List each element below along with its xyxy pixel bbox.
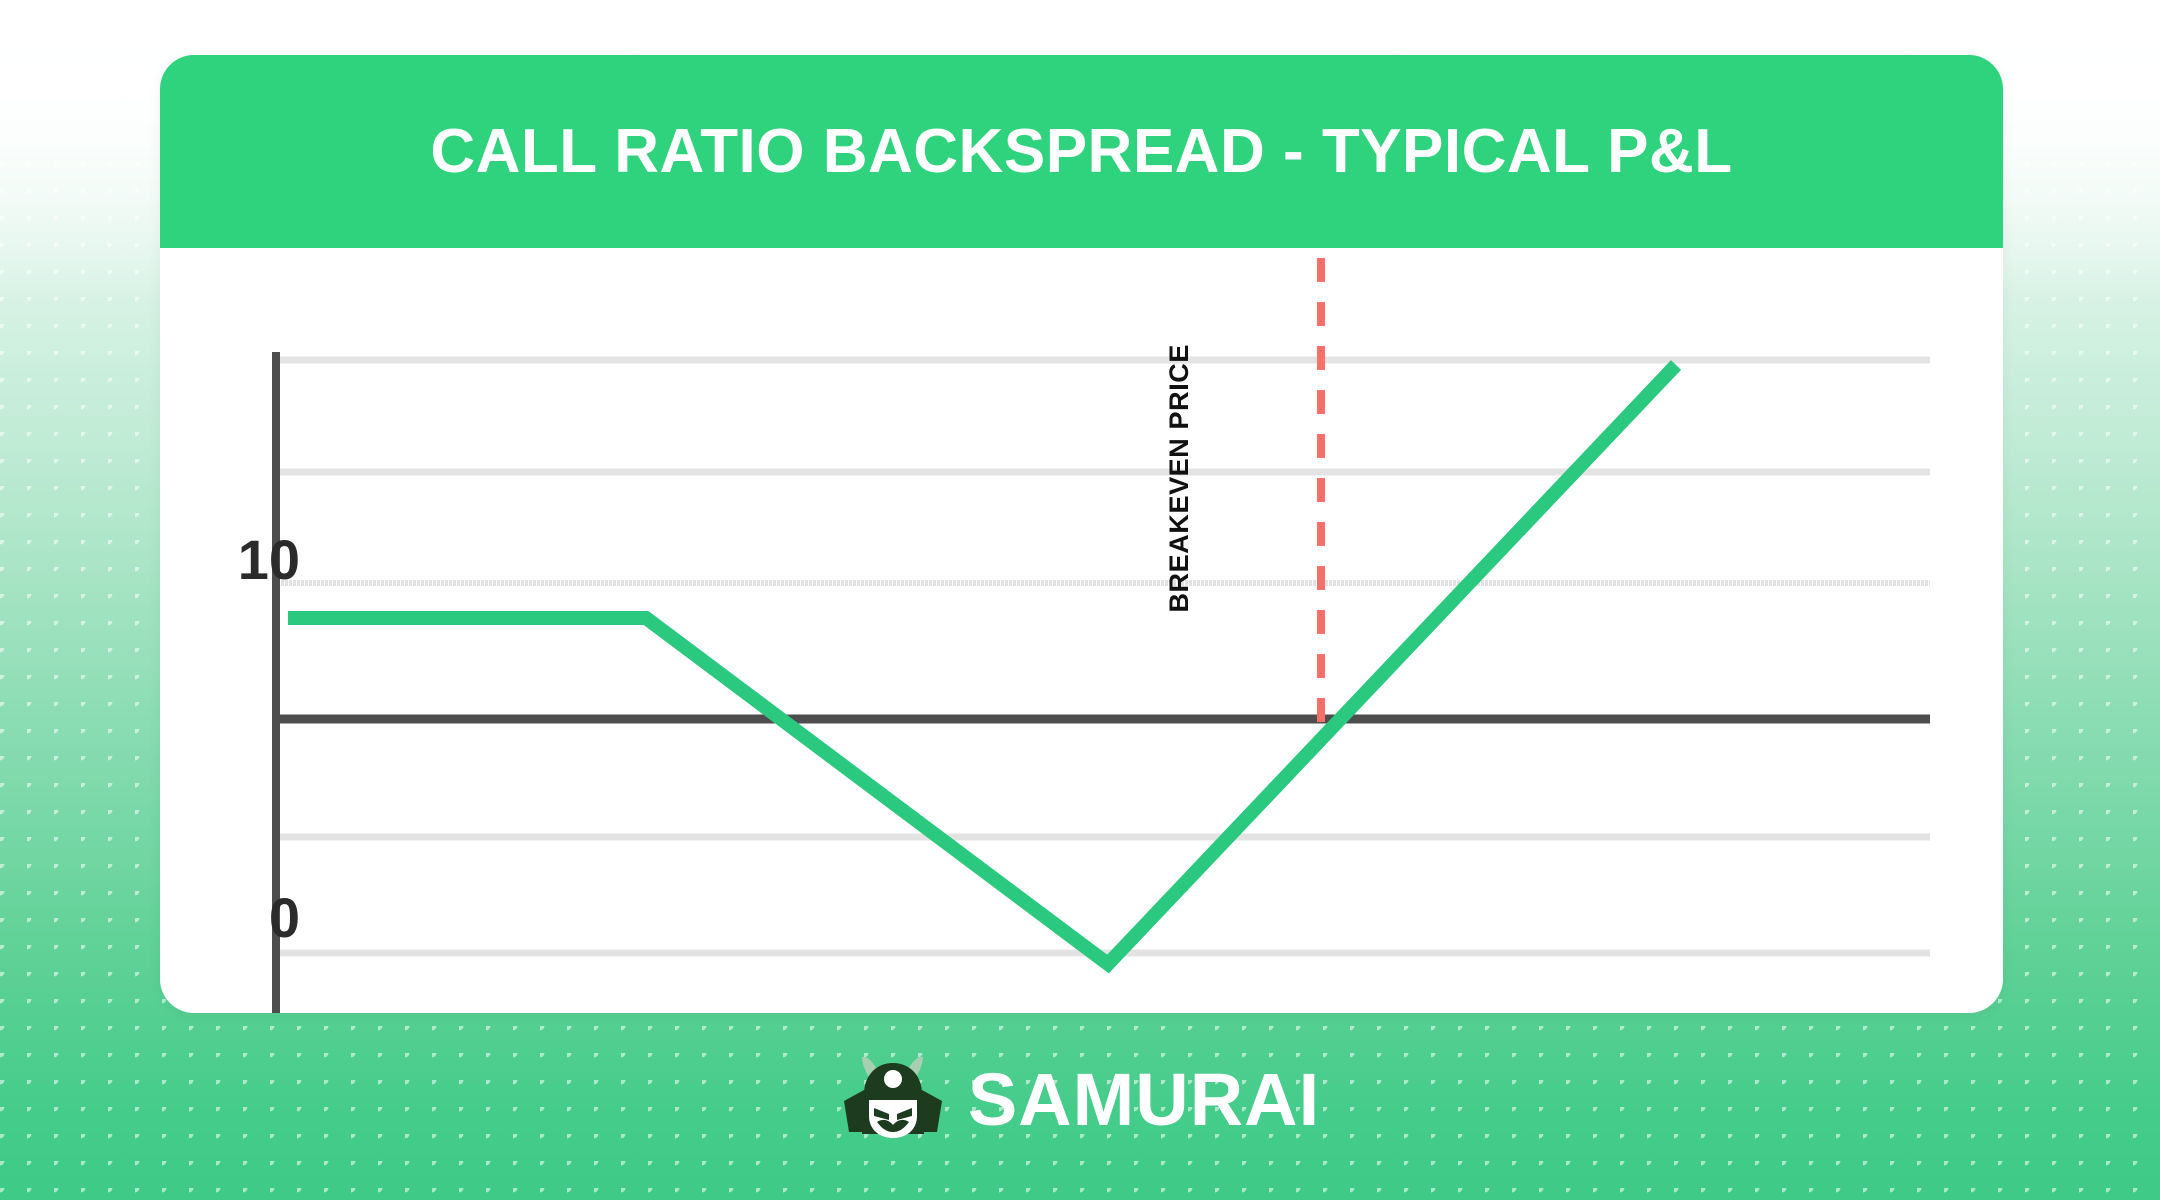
page-root: CALL RATIO BACKSPREAD - TYPICAL P&L (0, 0, 2160, 1200)
samurai-helmet-icon (840, 1054, 946, 1146)
page-title: CALL RATIO BACKSPREAD - TYPICAL P&L (430, 116, 1732, 187)
gridlines (273, 360, 1930, 953)
chart-card: CALL RATIO BACKSPREAD - TYPICAL P&L (160, 55, 2003, 1013)
pl-payoff-chart (160, 248, 2003, 1013)
chart-plot-area: 10 0 -10 BREAKEVEN PRICE (160, 248, 2003, 1013)
brand-footer: SAMURAI (0, 1040, 2160, 1160)
y-axis-tick-0: 0 (160, 885, 300, 950)
breakeven-price-label: BREAKEVEN PRICE (1164, 344, 1195, 613)
brand-wordmark: SAMURAI (968, 1063, 1320, 1137)
y-axis-tick-10: 10 (160, 527, 300, 592)
chart-card-header: CALL RATIO BACKSPREAD - TYPICAL P&L (160, 55, 2003, 248)
payoff-line (288, 365, 1676, 964)
